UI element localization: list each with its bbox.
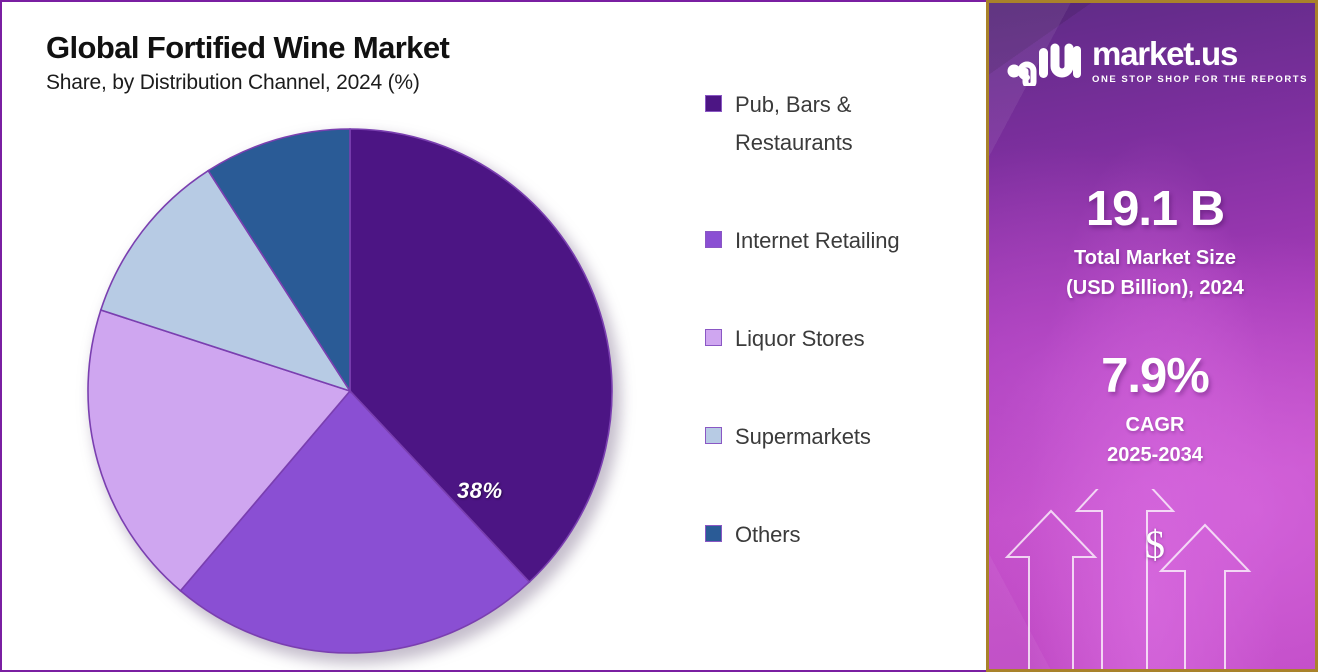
brand-wordmark: market.us xyxy=(1092,36,1308,72)
legend-item-label: Others xyxy=(735,516,800,554)
legend-swatch-icon xyxy=(705,525,722,542)
legend-item-internet-retailing[interactable]: Internet Retailing xyxy=(705,222,970,260)
page-subtitle: Share, by Distribution Channel, 2024 (%) xyxy=(46,71,449,95)
cagr-stat: 7.9% CAGR 2025-2034 xyxy=(989,348,1318,470)
brand-tagline: ONE STOP SHOP FOR THE REPORTS xyxy=(1092,74,1308,85)
chart-legend: Pub, Bars & Restaurants Internet Retaili… xyxy=(705,86,970,614)
pie-slices-svg xyxy=(85,126,615,656)
legend-swatch-icon xyxy=(705,231,722,248)
legend-swatch-icon xyxy=(705,95,722,112)
infographic-root: Global Fortified Wine Market Share, by D… xyxy=(0,0,1318,672)
market-size-caption-line-1: Total Market Size xyxy=(1074,247,1236,269)
chart-heading-group: Global Fortified Wine Market Share, by D… xyxy=(46,30,449,95)
cagr-caption-line-2: 2025-2034 xyxy=(1107,444,1203,466)
legend-item-others[interactable]: Others xyxy=(705,516,970,554)
brand-logo-text: market.us ONE STOP SHOP FOR THE REPORTS xyxy=(1092,36,1308,85)
brand-panel: $ market.us ONE STOP SHOP FOR THE REPORT… xyxy=(986,0,1318,672)
legend-item-label: Supermarkets xyxy=(735,418,871,456)
pie-slice-label: 38% xyxy=(457,478,503,504)
market-size-stat: 19.1 B Total Market Size (USD Billion), … xyxy=(989,181,1318,303)
legend-swatch-icon xyxy=(705,329,722,346)
growth-arrows-icon xyxy=(989,489,1318,669)
legend-item-liquor-stores[interactable]: Liquor Stores xyxy=(705,320,970,358)
legend-item-label: Internet Retailing xyxy=(735,222,900,260)
legend-item-label: Pub, Bars & Restaurants xyxy=(735,86,970,162)
brand-logo[interactable]: market.us ONE STOP SHOP FOR THE REPORTS xyxy=(1007,36,1308,86)
dollar-sign-icon: $ xyxy=(989,521,1318,568)
market-size-caption-line-2: (USD Billion), 2024 xyxy=(1066,277,1244,299)
market-size-value: 19.1 B xyxy=(989,181,1318,237)
cagr-caption: CAGR 2025-2034 xyxy=(989,410,1318,470)
legend-swatch-icon xyxy=(705,427,722,444)
pie-chart: 38% xyxy=(85,126,615,656)
legend-item-label: Liquor Stores xyxy=(735,320,865,358)
page-title: Global Fortified Wine Market xyxy=(46,30,449,66)
legend-item-supermarkets[interactable]: Supermarkets xyxy=(705,418,970,456)
cagr-value: 7.9% xyxy=(989,348,1318,404)
cagr-caption-line-1: CAGR xyxy=(1126,414,1185,436)
market-size-caption: Total Market Size (USD Billion), 2024 xyxy=(989,243,1318,303)
legend-item-pub-bars-restaurants[interactable]: Pub, Bars & Restaurants xyxy=(705,86,970,162)
market-us-logo-icon xyxy=(1007,38,1081,86)
chart-panel: Global Fortified Wine Market Share, by D… xyxy=(0,0,986,672)
